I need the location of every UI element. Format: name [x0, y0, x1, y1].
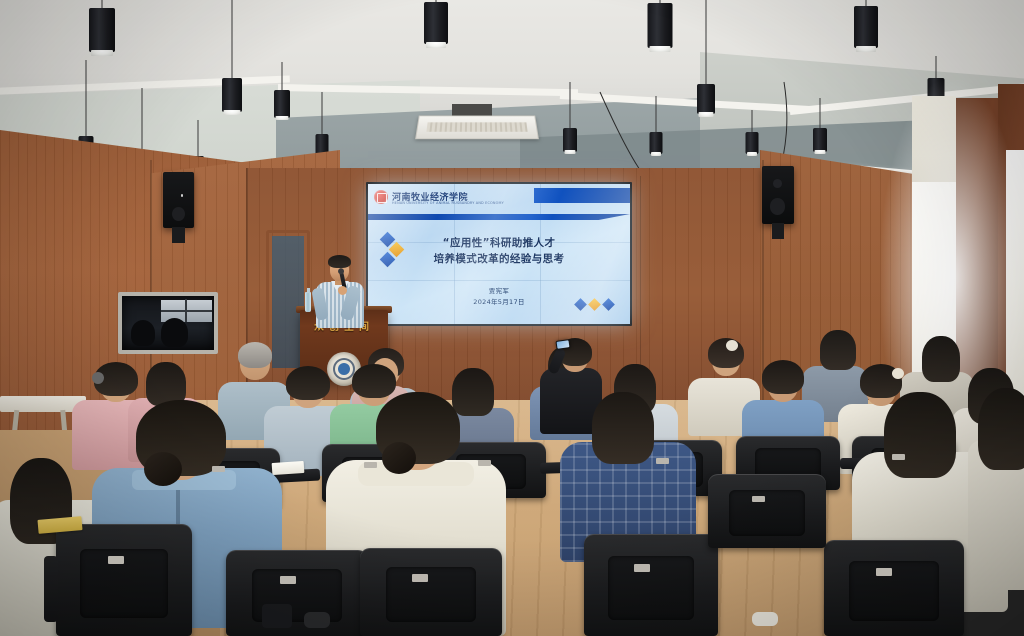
person-hair — [820, 330, 856, 370]
person-hair — [286, 366, 330, 400]
person-hair — [352, 364, 396, 398]
smartphone — [555, 339, 570, 350]
lecture-hall-photo: 河南牧业经济学院 HENAN UNIVERSITY OF ANIMAL HUSB… — [0, 0, 1024, 636]
person-hair-tie — [726, 340, 738, 351]
chair-tag-m2 — [364, 462, 377, 468]
chair-f1 — [56, 524, 192, 636]
person-hair-knot — [382, 442, 416, 474]
chair-f5 — [824, 540, 964, 636]
window-blind-right — [912, 96, 956, 182]
chair-f3 — [360, 548, 502, 636]
chair-tag-f5 — [876, 568, 892, 576]
bag-strap — [262, 604, 292, 628]
speaker-mount-right — [772, 223, 784, 239]
speaker-hand — [338, 286, 347, 295]
chair-tag-m3 — [478, 460, 491, 466]
slide-header-banner — [534, 188, 630, 203]
slide-grid-h2 — [368, 280, 630, 281]
chair-tag-m6 — [892, 454, 905, 460]
person-hair — [922, 336, 960, 382]
chair-f6 — [708, 474, 826, 548]
person-hair-tie — [892, 368, 904, 379]
chair-arm-f1 — [44, 556, 58, 622]
notes-paper-1 — [272, 461, 305, 475]
chair-tag-f4 — [634, 564, 650, 572]
projected-slide: 河南牧业经济学院 HENAN UNIVERSITY OF ANIMAL HUSB… — [368, 184, 630, 324]
shoe — [304, 612, 330, 628]
person-hair-clip — [92, 372, 104, 384]
person-hair — [884, 392, 956, 478]
person-hair — [238, 342, 272, 368]
person-hair — [762, 360, 804, 394]
chair-tag-f6 — [752, 496, 765, 502]
slide-header-rule — [368, 214, 630, 220]
chair-tag-f3 — [412, 574, 428, 582]
slide-title-line-1: “应用性”科研助推人才 — [368, 236, 630, 251]
person-hair — [592, 392, 654, 464]
chair-tag-f1 — [108, 556, 124, 564]
speaker-mount-left — [172, 227, 185, 243]
wall-speaker-right — [762, 166, 794, 224]
person-hair — [978, 388, 1024, 470]
wall-speaker-left — [163, 172, 194, 228]
air-conditioner-unit — [415, 116, 539, 140]
slide-header: 河南牧业经济学院 HENAN UNIVERSITY OF ANIMAL HUSB… — [368, 184, 630, 210]
slide-presenter: 贾宪军 — [368, 286, 630, 297]
institution-name-en: HENAN UNIVERSITY OF ANIMAL HUSBANDRY AND… — [392, 201, 504, 205]
chair-tag-m1 — [212, 466, 225, 472]
slide-title-line-2: 培养模式改革的经验与思考 — [368, 252, 630, 267]
window-silhouette-a — [131, 320, 155, 346]
chair-f2 — [226, 550, 368, 636]
window-silhouette-b — [161, 318, 189, 347]
chair-tag-f2 — [280, 576, 296, 584]
university-seal-icon — [374, 190, 388, 204]
chair-f4 — [584, 534, 718, 636]
chair-tag-m4 — [656, 458, 669, 464]
sneaker — [752, 612, 778, 626]
window-mullion-h — [161, 310, 213, 312]
person-hair — [452, 368, 494, 416]
person-hair-knot — [144, 452, 182, 486]
wall-seam-1 — [246, 168, 248, 418]
interior-window — [118, 292, 218, 354]
water-bottle — [305, 292, 311, 312]
